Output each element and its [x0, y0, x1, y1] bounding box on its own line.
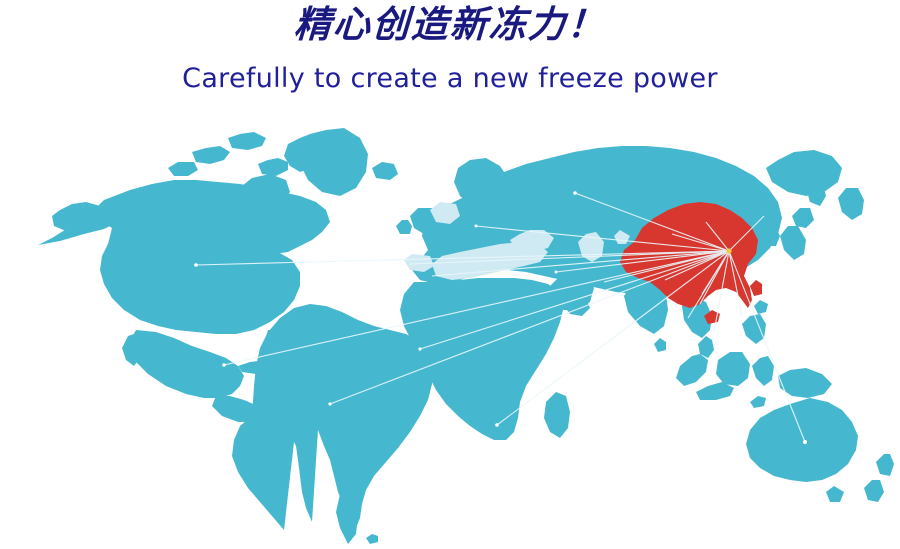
endpoint-dot-north-america: [194, 263, 198, 267]
page-subtitle-english: Carefully to create a new freeze power: [0, 62, 900, 96]
page-title-chinese: 精心创造新冻力！: [0, 2, 900, 48]
endpoint-dot-australia: [803, 440, 807, 444]
endpoint-dot-europe: [475, 225, 478, 228]
endpoint-dot-middle-east: [555, 271, 558, 274]
endpoint-dot-south-america: [222, 363, 226, 367]
endpoint-dot-south-africa: [495, 423, 499, 427]
world-map-container: [0, 104, 900, 549]
poster-root: 精心创造新冻力！ Carefully to create a new freez…: [0, 0, 900, 549]
endpoint-dot-russia: [573, 191, 577, 195]
world-map-svg: [0, 104, 900, 549]
endpoint-dot-west-africa: [418, 347, 421, 350]
endpoint-dot-brazil: [328, 402, 331, 405]
hub-marker-china[interactable]: [726, 248, 731, 253]
